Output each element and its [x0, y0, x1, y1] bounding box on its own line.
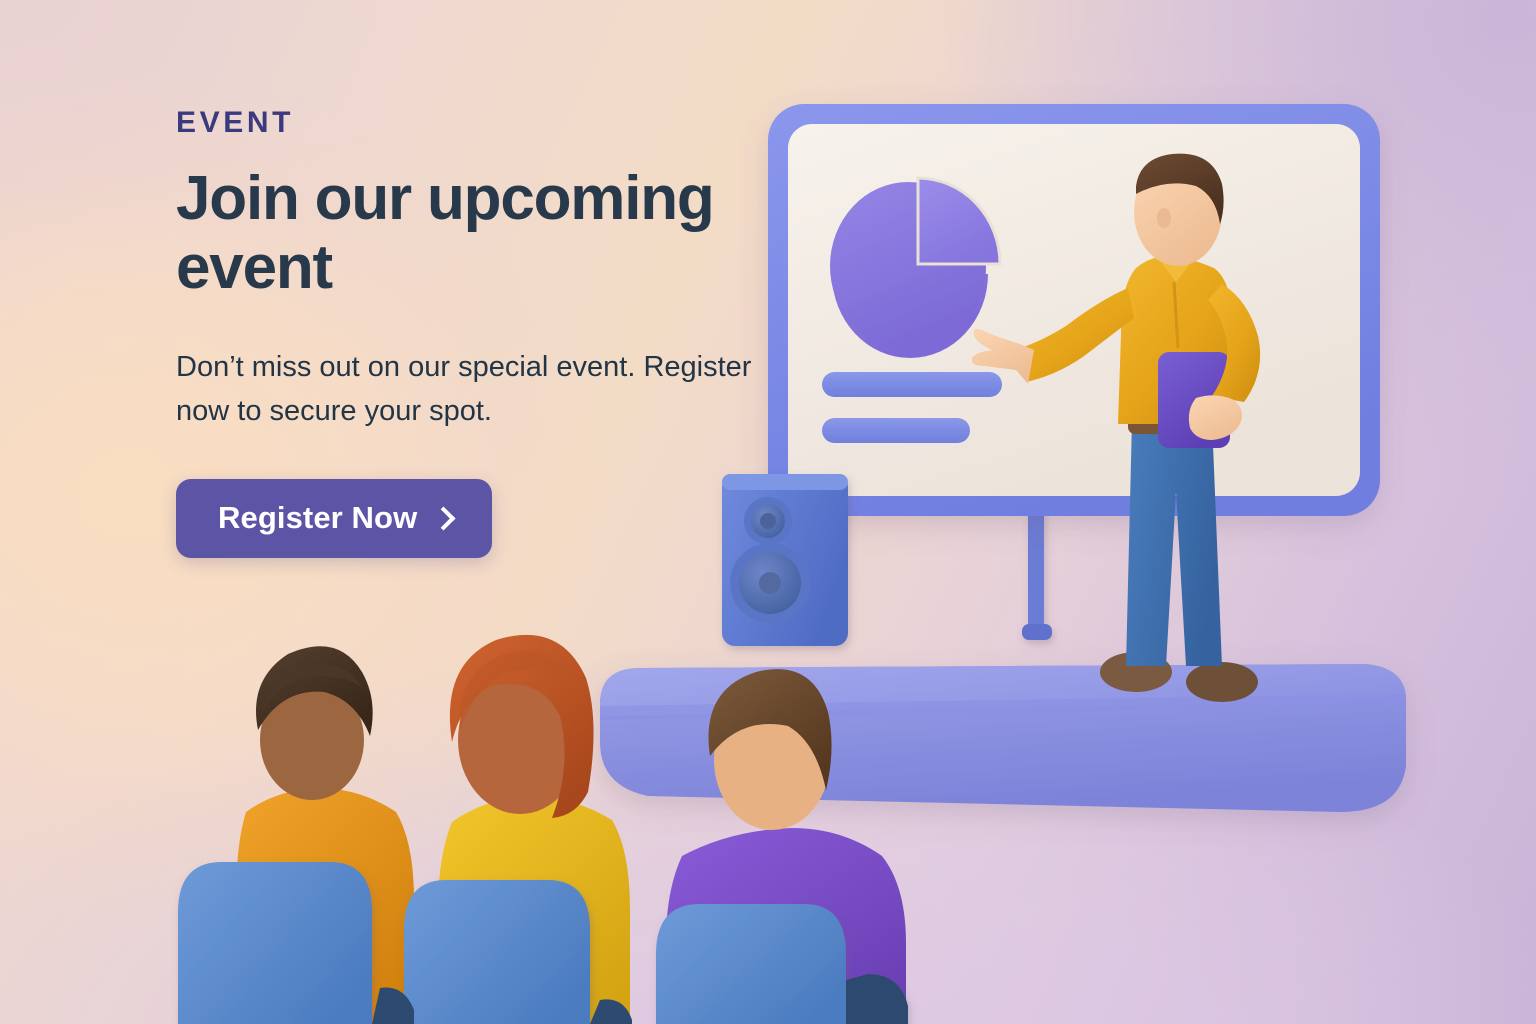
event-promo-banner: EVENT Join our upcoming event Don’t miss… [0, 0, 1536, 1024]
page-title: Join our upcoming event [176, 164, 776, 303]
audience-chair-1 [178, 862, 372, 1024]
chevron-right-icon [432, 507, 456, 531]
subtitle-text: Don’t miss out on our special event. Reg… [176, 345, 766, 433]
presentation-screen [768, 104, 1380, 516]
register-now-button[interactable]: Register Now [176, 479, 492, 558]
audience-chair-2 [404, 880, 590, 1024]
banner-copy: EVENT Join our upcoming event Don’t miss… [176, 108, 796, 558]
register-now-label: Register Now [218, 500, 417, 536]
eyebrow-label: EVENT [176, 108, 796, 138]
